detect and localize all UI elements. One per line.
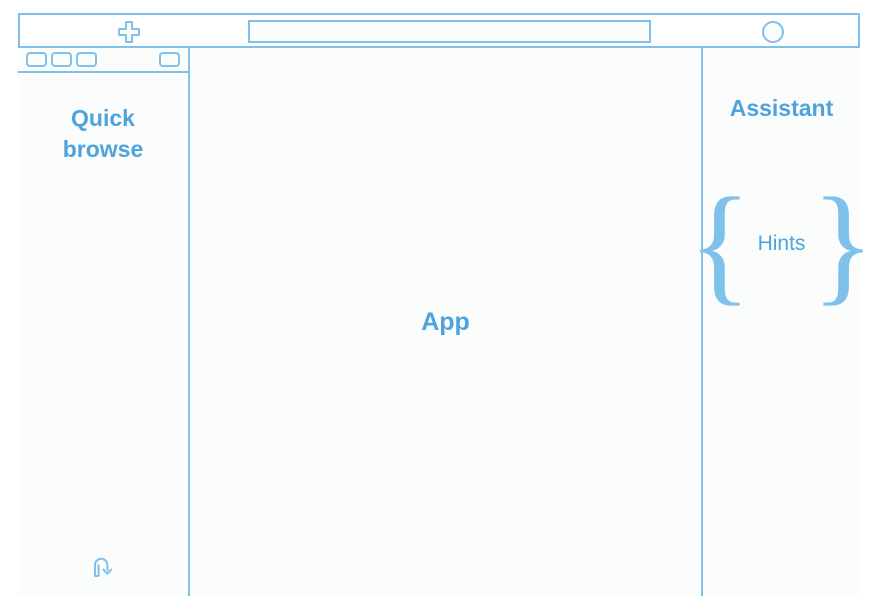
hints-group: { Hints } [703, 174, 860, 314]
app-content-region[interactable]: App [190, 48, 703, 596]
wireframe-canvas: Quick browse App Assistant { Hints } [0, 0, 879, 616]
extra-button[interactable] [159, 52, 180, 67]
body-region: Quick browse App Assistant { Hints } [18, 48, 860, 596]
right-brace: } [811, 193, 874, 296]
account-button[interactable] [685, 15, 860, 48]
hints-label: Hints [752, 232, 812, 256]
left-brace: { [688, 193, 751, 296]
maximize-button[interactable] [76, 52, 97, 67]
minimize-button[interactable] [51, 52, 72, 67]
plus-icon [117, 20, 141, 44]
address-bar-container [240, 15, 685, 48]
u-turn-arrow-icon[interactable] [90, 554, 116, 580]
circle-avatar-icon [762, 21, 784, 43]
sidebar-content-area [18, 165, 188, 538]
top-bar [18, 15, 860, 48]
sidebar-footer [18, 538, 188, 596]
close-button[interactable] [26, 52, 47, 67]
window-controls-bar [18, 48, 188, 73]
address-bar-input[interactable] [248, 20, 651, 43]
add-tab-button[interactable] [18, 15, 240, 48]
assistant-title: Assistant [730, 95, 834, 122]
quick-browse-sidebar: Quick browse [18, 48, 190, 596]
quick-browse-title: Quick browse [18, 103, 188, 165]
assistant-panel: Assistant { Hints } [703, 48, 860, 596]
app-label: App [421, 308, 470, 337]
